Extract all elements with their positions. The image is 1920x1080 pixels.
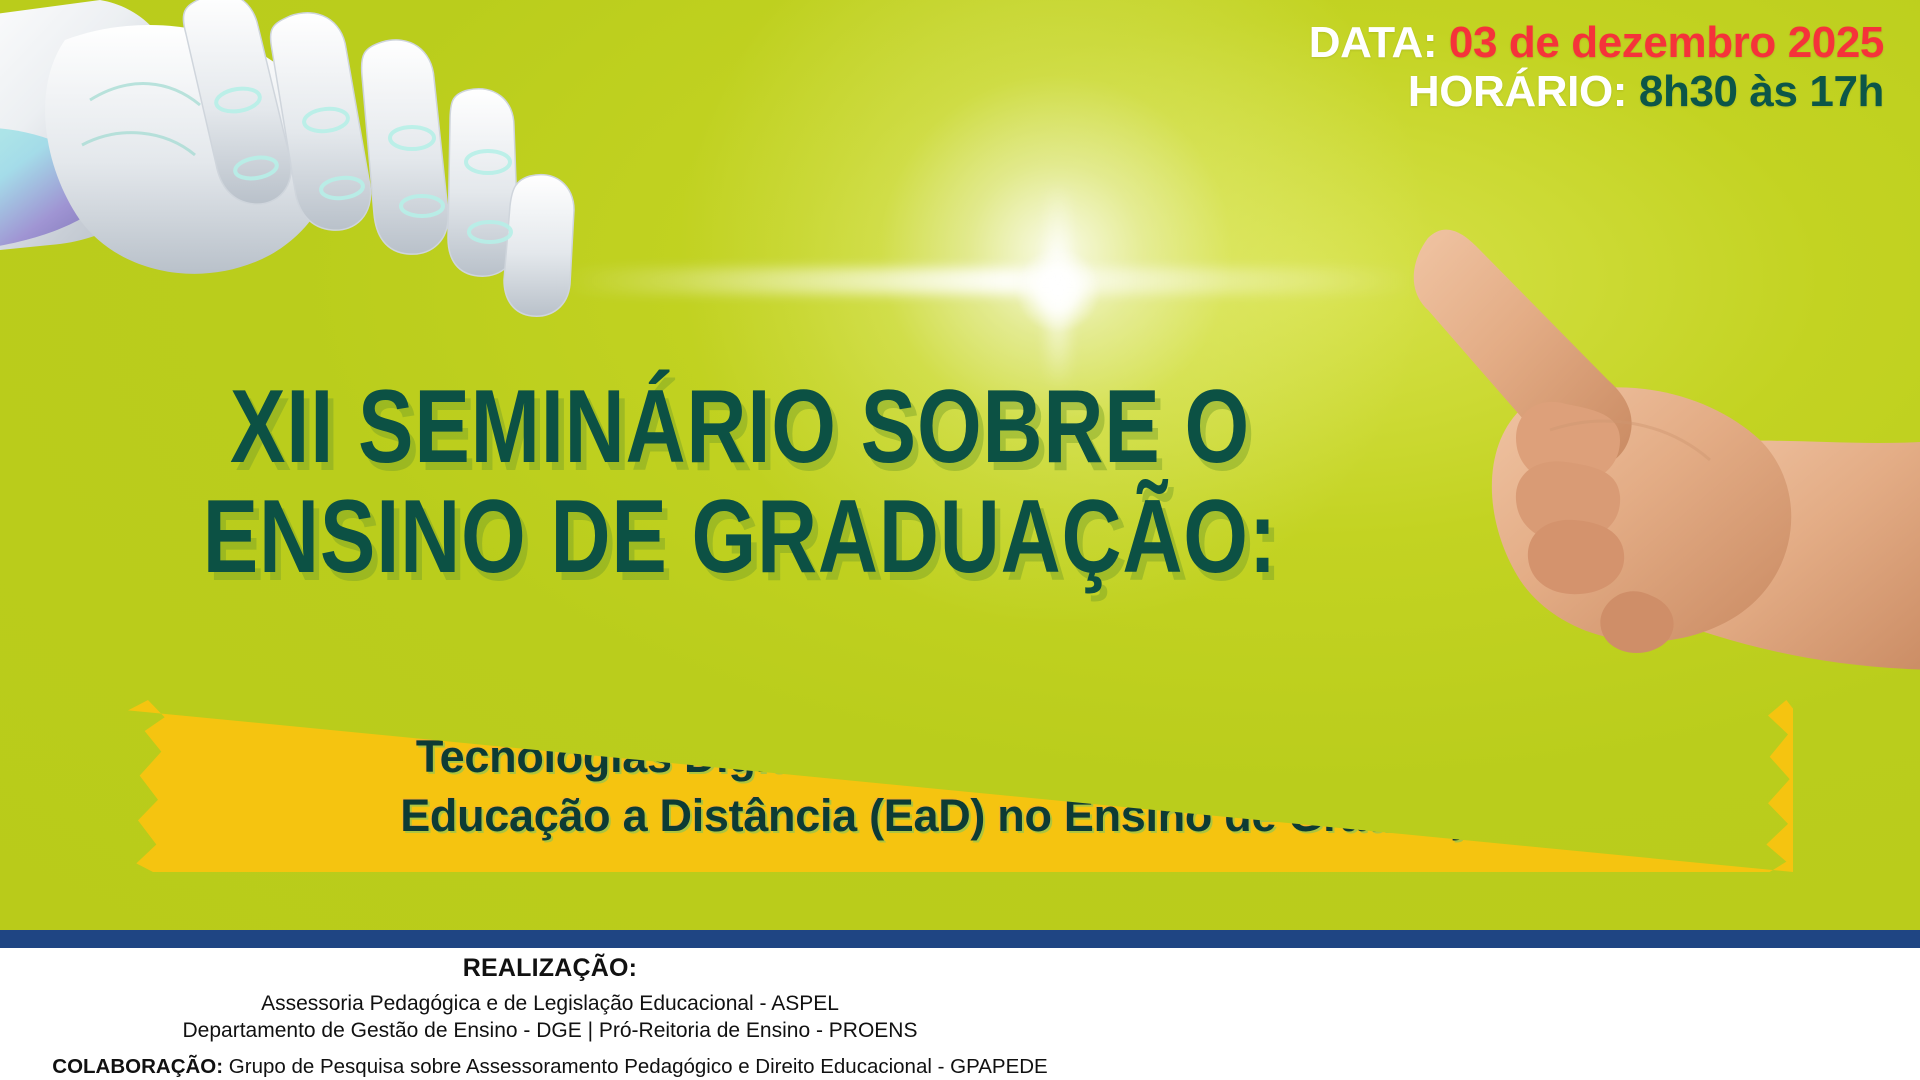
robot-hand-image [0, 0, 690, 400]
event-datetime-block: DATA: 03 de dezembro 2025 HORÁRIO: 8h30 … [1309, 18, 1884, 117]
hero-background: DATA: 03 de dezembro 2025 HORÁRIO: 8h30 … [0, 0, 1920, 930]
date-value: 03 de dezembro 2025 [1449, 18, 1884, 67]
event-time-line: HORÁRIO: 8h30 às 17h [1309, 67, 1884, 116]
event-title: XII SEMINÁRIO SOBRE O ENSINO DE GRADUAÇÃ… [0, 372, 1480, 592]
subtitle-banner: Tecnologias Digitais e o novo Marco Regu… [128, 700, 1793, 872]
colaboracao-value: Grupo de Pesquisa sobre Assessoramento P… [229, 1055, 1048, 1078]
time-label: HORÁRIO: [1408, 67, 1627, 116]
realizacao-line-2: Departamento de Gestão de Ensino - DGE |… [0, 1017, 1100, 1044]
date-label: DATA: [1309, 18, 1437, 67]
event-date-line: DATA: 03 de dezembro 2025 [1309, 18, 1884, 67]
colaboracao-line: COLABORAÇÃO: Grupo de Pesquisa sobre Ass… [0, 1054, 1100, 1080]
realizacao-label: REALIZAÇÃO: [0, 954, 1100, 983]
event-title-line-1: XII SEMINÁRIO SOBRE O [148, 372, 1332, 482]
light-spark-vertical [1047, 180, 1069, 390]
realizacao-line-1: Assessoria Pedagógica e de Legislação Ed… [0, 990, 1100, 1017]
blue-divider [0, 930, 1920, 948]
time-value: 8h30 às 17h [1639, 67, 1884, 116]
footer: REALIZAÇÃO: Assessoria Pedagógica e de L… [0, 948, 1920, 1080]
colaboracao-label: COLABORAÇÃO: [52, 1055, 223, 1078]
event-poster: DATA: 03 de dezembro 2025 HORÁRIO: 8h30 … [0, 0, 1920, 1080]
subtitle-line-2: Educação a Distância (EaD) no Ensino de … [400, 786, 1521, 845]
event-title-line-2: ENSINO DE GRADUAÇÃO: [148, 482, 1332, 592]
footer-credits: REALIZAÇÃO: Assessoria Pedagógica e de L… [0, 954, 1100, 1079]
light-spark-core [1016, 248, 1100, 332]
subtitle-line-1: Tecnologias Digitais e o novo Marco Regu… [416, 727, 1505, 786]
